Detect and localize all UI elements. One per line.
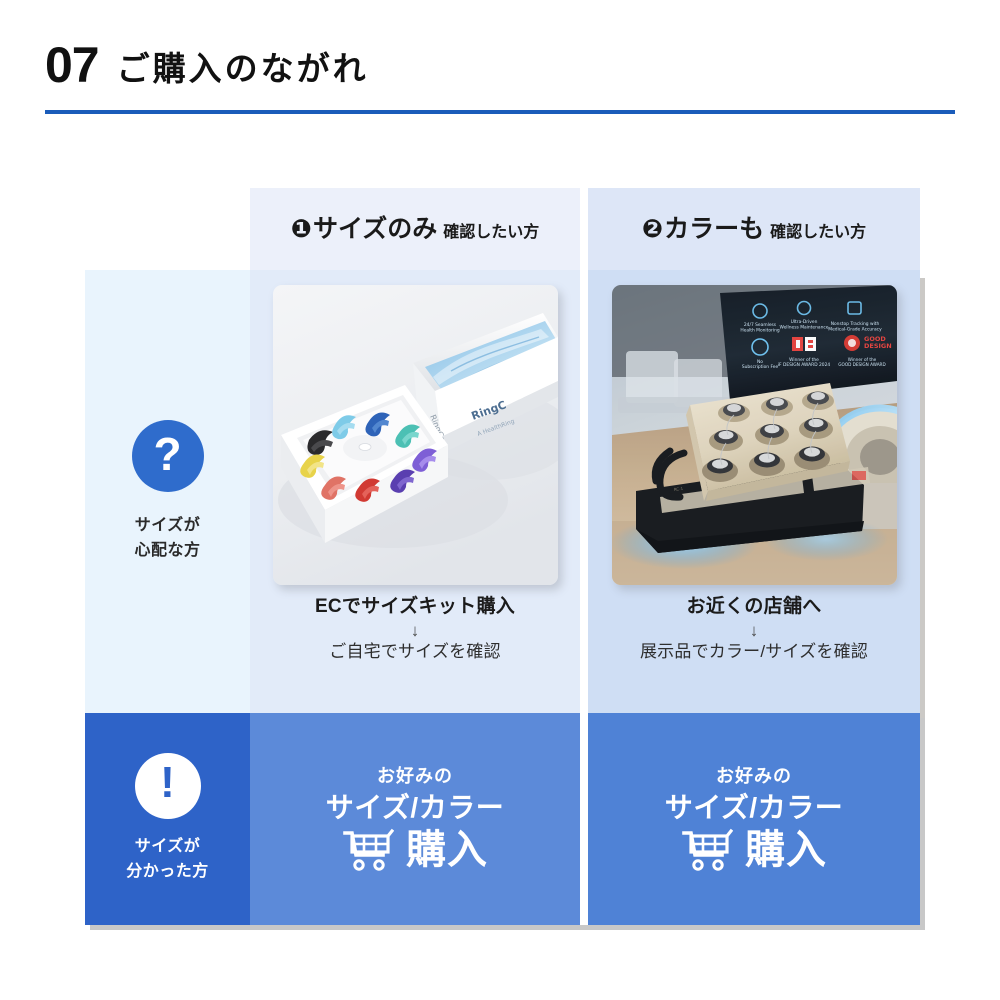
sidebar-label-2-line1: サイズが [135, 835, 201, 860]
cta-2-buy-label: 購入 [745, 830, 827, 870]
sidebar-item-size-known: ! サイズが 分かった方 [85, 713, 250, 925]
sidebar-label-2-line2: 分かった方 [126, 860, 209, 885]
column-badge-2: ❷ [642, 217, 663, 242]
sidebar-label-1-line2: 心配な方 [134, 539, 200, 564]
column-badge-1: ❶ [291, 217, 312, 242]
column-title-2: カラーも [664, 217, 764, 242]
cta-1-line1: お好みの [377, 766, 453, 788]
exclamation-mark-glyph: ! [160, 761, 175, 805]
cta-1-buy-label: 購入 [406, 830, 488, 870]
column-subtitle-2: 確認したい方 [770, 225, 866, 241]
bottom-shadow-right [920, 718, 925, 925]
sidebar-item-size-concerned: ? サイズが 心配な方 [85, 270, 250, 713]
cta-purchase-2[interactable]: お好みの サイズ/カラー 購入 [588, 713, 920, 925]
question-mark-icon: ? [132, 420, 204, 492]
shopping-cart-icon [342, 828, 394, 872]
column-title-1: サイズのみ [313, 217, 437, 242]
cta-1-line2: サイズ/カラー [326, 791, 504, 825]
caption-column-2: お近くの店舗へ ↓ 展示品でカラー/サイズを確認 [588, 596, 920, 663]
sidebar-label-1-line1: サイズが [135, 514, 201, 539]
caption-2-sub: 展示品でカラー/サイズを確認 [588, 641, 920, 662]
column-subtitle-1: 確認したい方 [443, 225, 539, 241]
store-display-illustration: 24/7 Seamless Health Monitoring Ultra-Dr… [612, 285, 897, 585]
sizing-kit-box-photo: RingC RingConn A HealthRing [273, 285, 558, 585]
store-display-stand-photo: 24/7 Seamless Health Monitoring Ultra-Dr… [612, 285, 897, 585]
caption-2-arrow: ↓ [588, 621, 920, 641]
cta-2-line2: サイズ/カラー [665, 791, 843, 825]
column-header-color-too: ❷ カラーも 確認したい方 [588, 188, 920, 270]
exclamation-mark-icon: ! [135, 753, 201, 819]
caption-1-main: ECでサイズキット購入 [250, 596, 580, 619]
caption-column-1: ECでサイズキット購入 ↓ ご自宅でサイズを確認 [250, 596, 580, 663]
caption-2-main: お近くの店舗へ [588, 596, 920, 619]
sizing-kit-illustration: RingC RingConn A HealthRing [273, 285, 558, 585]
shopping-cart-icon [681, 828, 733, 872]
caption-1-arrow: ↓ [250, 621, 580, 641]
purchase-flow-diagram: ❶ サイズのみ 確認したい方 ❷ カラーも 確認したい方 ? サイズが 心配な方 [0, 0, 1000, 1000]
question-mark-glyph: ? [153, 431, 181, 477]
cta-2-line1: お好みの [716, 766, 792, 788]
panel-shadow-right [920, 278, 925, 721]
cta-purchase-1[interactable]: お好みの サイズ/カラー 購入 [250, 713, 580, 925]
caption-1-sub: ご自宅でサイズを確認 [250, 641, 580, 662]
column-header-size-only: ❶ サイズのみ 確認したい方 [250, 188, 580, 270]
bottom-shadow [90, 925, 925, 930]
